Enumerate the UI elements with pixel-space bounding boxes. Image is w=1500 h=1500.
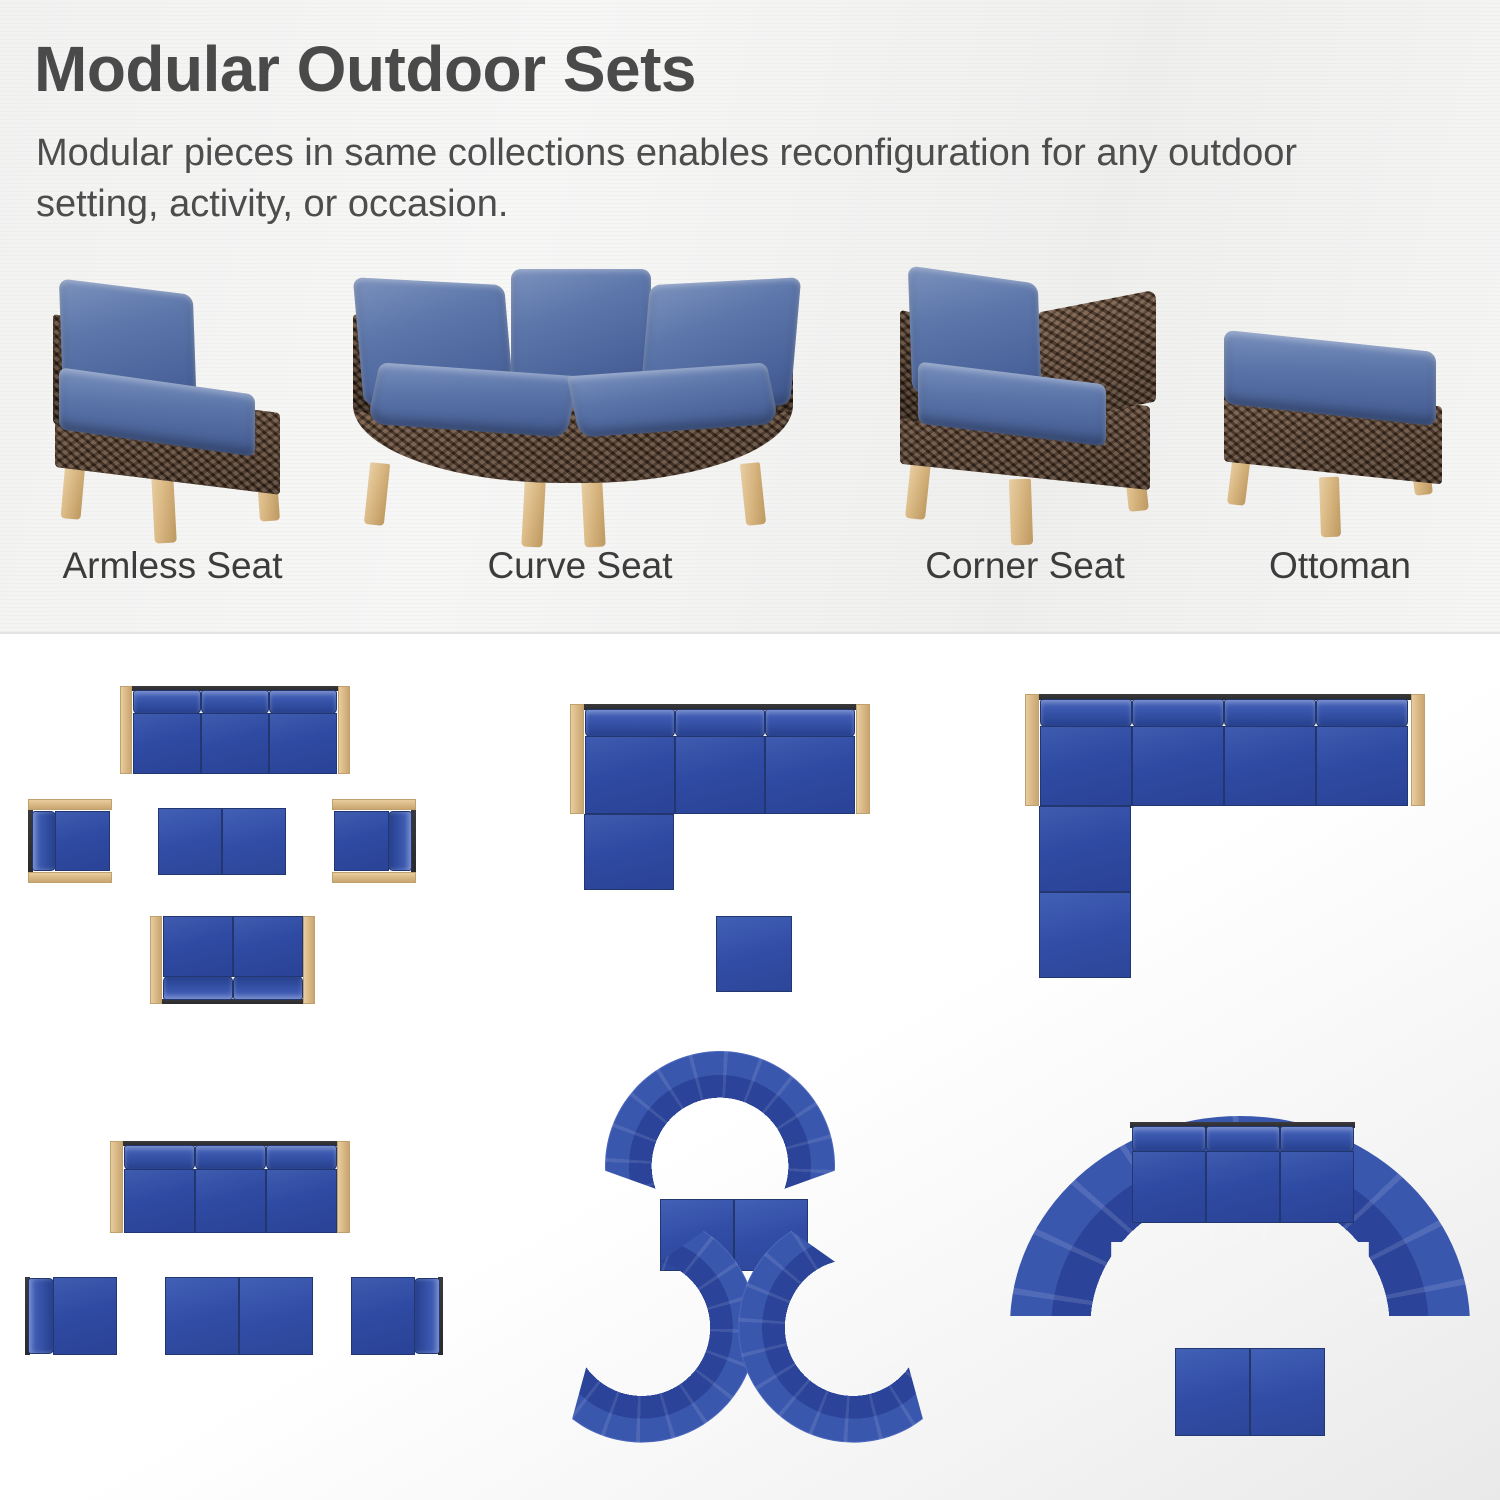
configuration-horseshoe-curved-set: [1010, 1116, 1480, 1446]
module-armless-right: [351, 1277, 443, 1355]
back-cushion: [266, 1145, 337, 1170]
product-photo-ottoman: [1212, 327, 1464, 537]
seat-cushion: [1132, 726, 1224, 806]
seat-cushion: [1040, 726, 1132, 806]
back-cushion: [414, 1278, 440, 1354]
module-armchair-right: [332, 799, 416, 883]
seat-cushion: [675, 736, 765, 814]
ottoman-pad: [1250, 1348, 1325, 1436]
ottoman-pad: [716, 916, 792, 992]
back-cushion: [675, 709, 765, 737]
seat-cushion: [1039, 806, 1131, 892]
module-return-ottoman: [1039, 892, 1131, 978]
page-title: Modular Outdoor Sets: [34, 36, 696, 103]
seat-cushion: [351, 1277, 415, 1355]
back-cushion: [1316, 699, 1408, 727]
back-cushion: [269, 690, 337, 714]
sofa-arm-left: [120, 686, 132, 774]
configurations-section: [0, 636, 1500, 1500]
furniture-leg: [1009, 479, 1033, 546]
seat-cushion: [55, 811, 110, 871]
furniture-leg: [521, 480, 545, 547]
seat-cushion: [1132, 1151, 1206, 1223]
back-cushion: [1132, 699, 1224, 727]
back-cushion: [124, 1145, 195, 1170]
seat-cushion: [585, 736, 675, 814]
product-label-armless-seat: Armless Seat: [0, 545, 345, 587]
configuration-curved-triangle-set: [505, 1051, 955, 1451]
module-double-ottoman: [165, 1277, 313, 1355]
back-cushion: [585, 709, 675, 737]
module-double-ottoman: [1175, 1348, 1325, 1436]
module-return-seat: [1039, 806, 1131, 892]
furniture-leg: [740, 462, 766, 526]
product-photo-armless-seat: [45, 273, 300, 535]
seat-cushion: [1280, 1151, 1354, 1223]
back-cushion: [195, 1145, 266, 1170]
seat-cushion: [233, 916, 303, 977]
product-photo-corner-seat: [878, 265, 1178, 537]
back-cushion: [1224, 699, 1316, 727]
chair-arm-bottom: [332, 872, 416, 883]
module-three-seat-sofa: [110, 1141, 350, 1233]
back-cushion: [28, 1278, 54, 1354]
sofa-arm-right: [1411, 694, 1425, 806]
ottoman-pad: [165, 1277, 239, 1355]
sofa-arm-right: [337, 1141, 350, 1233]
seat-cushion: [1206, 1151, 1280, 1223]
sofa-arm-right: [338, 686, 350, 774]
back-cushion: [163, 976, 233, 1000]
back-cushion: [1040, 699, 1132, 727]
seat-cushion: [584, 814, 674, 890]
hero-section: Modular Outdoor Sets Modular pieces in s…: [0, 0, 1500, 634]
furniture-leg: [364, 462, 390, 526]
seat-cushion: [266, 1169, 337, 1233]
module-loveseat: [150, 916, 315, 1004]
configuration-sofa-and-ottomans: [15, 1141, 445, 1401]
furniture-leg: [1319, 477, 1341, 538]
product-label-corner-seat: Corner Seat: [830, 545, 1220, 587]
back-cushion: [133, 690, 201, 714]
back-cushion: [233, 976, 303, 1000]
back-cushion: [388, 811, 412, 871]
module-curved-seat-left: [515, 1219, 715, 1419]
module-curved-seat-top: [605, 1051, 835, 1171]
sofa-arm-left: [150, 916, 162, 1004]
seat-cushion: [1224, 726, 1316, 806]
back-cushion: [765, 709, 855, 737]
module-chaise-extension: [584, 814, 674, 890]
seat-cushion: [765, 736, 855, 814]
sofa-arm-right: [856, 704, 870, 814]
configuration-l-sectional-with-chaise: [570, 704, 890, 1004]
product-photo-row: Armless Seat Curve Seat: [0, 255, 1500, 555]
module-curved-seat-right: [750, 1219, 950, 1419]
sofa-arm-right: [303, 916, 315, 1004]
furniture-leg: [581, 480, 605, 547]
back-cushion: [1280, 1126, 1354, 1152]
module-armless-left: [25, 1277, 117, 1355]
ottoman-pad: [158, 808, 222, 875]
ottoman-pad: [222, 808, 286, 875]
furniture-leg: [151, 474, 177, 543]
ottoman-pad: [1175, 1348, 1250, 1436]
module-three-seat-sofa: [120, 686, 350, 774]
ottoman-pad: [1039, 892, 1131, 978]
module-three-seat-sofa: [570, 704, 870, 814]
seat-cushion: [1316, 726, 1408, 806]
seat-cushion: [334, 811, 389, 871]
seat-cushion: [163, 916, 233, 977]
sofa-arm-left: [110, 1141, 123, 1233]
configuration-conversation-set: [20, 686, 440, 1016]
sofa-arm-left: [1025, 694, 1039, 806]
module-double-ottoman: [158, 808, 286, 875]
module-curved-horseshoe: [1010, 1116, 1470, 1316]
product-photo-curve-seat: [345, 259, 820, 539]
module-armchair-left: [28, 799, 112, 883]
product-label-ottoman: Ottoman: [1190, 545, 1490, 587]
page-subtitle: Modular pieces in same collections enabl…: [36, 128, 1366, 231]
product-label-curve-seat: Curve Seat: [390, 545, 770, 587]
infographic-page: Modular Outdoor Sets Modular pieces in s…: [0, 0, 1500, 1500]
module-ottoman: [716, 916, 792, 992]
furniture-leg: [905, 460, 931, 520]
seat-cushion: [269, 713, 337, 774]
ottoman-pad: [239, 1277, 313, 1355]
seat-cushion: [201, 713, 269, 774]
configuration-large-l-sectional: [1025, 694, 1445, 1014]
back-cushion: [201, 690, 269, 714]
chair-arm-top: [332, 799, 416, 810]
seat-cushion: [195, 1169, 266, 1233]
module-four-seat-sofa: [1025, 694, 1425, 806]
sofa-arm-left: [570, 704, 584, 814]
back-cushion: [1132, 1126, 1206, 1152]
back-cushion: [1206, 1126, 1280, 1152]
back-cushion: [32, 811, 56, 871]
seat-cushion: [53, 1277, 117, 1355]
chair-arm-top: [28, 799, 112, 810]
seat-cushion: [133, 713, 201, 774]
chair-arm-bottom: [28, 872, 112, 883]
seat-cushion: [124, 1169, 195, 1233]
